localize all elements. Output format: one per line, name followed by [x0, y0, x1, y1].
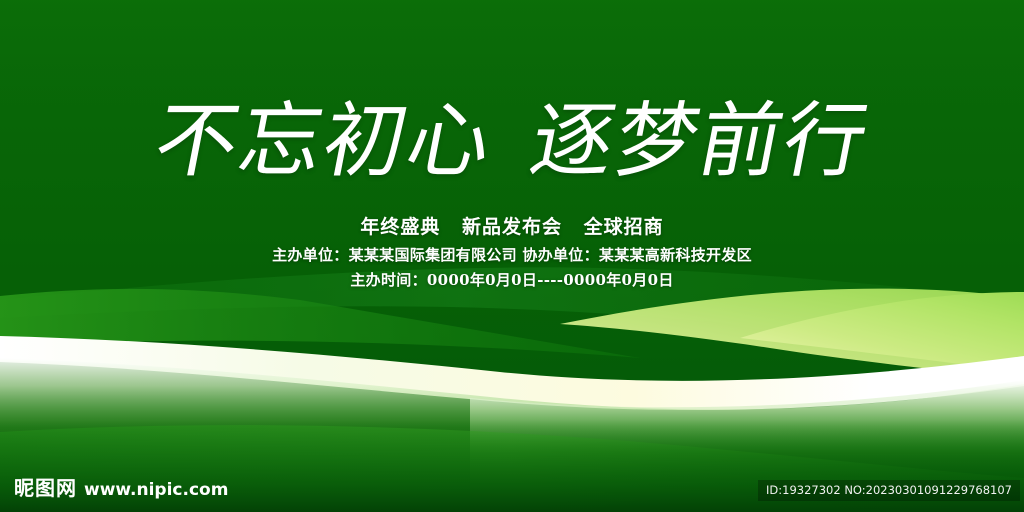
headline-part-2: 逐梦前行	[523, 94, 877, 189]
organizer-line: 主办单位：某某某国际集团有限公司 协办单位：某某某高新科技开发区	[0, 244, 1024, 267]
event-time-line: 主办时间：0000年0月0日----0000年0月0日	[0, 269, 1024, 292]
poster-subtitle-block: 年终盛典 新品发布会 全球招商 主办单位：某某某国际集团有限公司 协办单位：某某…	[0, 214, 1024, 292]
nipic-logo-text: 昵图网	[14, 477, 77, 499]
tagline-segment-2: 新品发布会	[462, 216, 562, 238]
tagline-row: 年终盛典 新品发布会 全球招商	[0, 214, 1024, 240]
watermark-brand: 昵图网 www.nipic.com	[14, 477, 228, 500]
headline-part-1: 不忘初心	[147, 94, 501, 189]
poster-canvas: 不忘初心逐梦前行 年终盛典 新品发布会 全球招商 主办单位：某某某国际集团有限公…	[0, 0, 1024, 512]
poster-headline: 不忘初心逐梦前行	[0, 96, 1024, 188]
watermark-id-badge: ID:19327302 NO:20230301091229768107	[758, 480, 1020, 501]
tagline-segment-1: 年终盛典	[360, 216, 440, 238]
tagline-segment-3: 全球招商	[584, 216, 664, 238]
nipic-site-url: www.nipic.com	[84, 480, 228, 500]
